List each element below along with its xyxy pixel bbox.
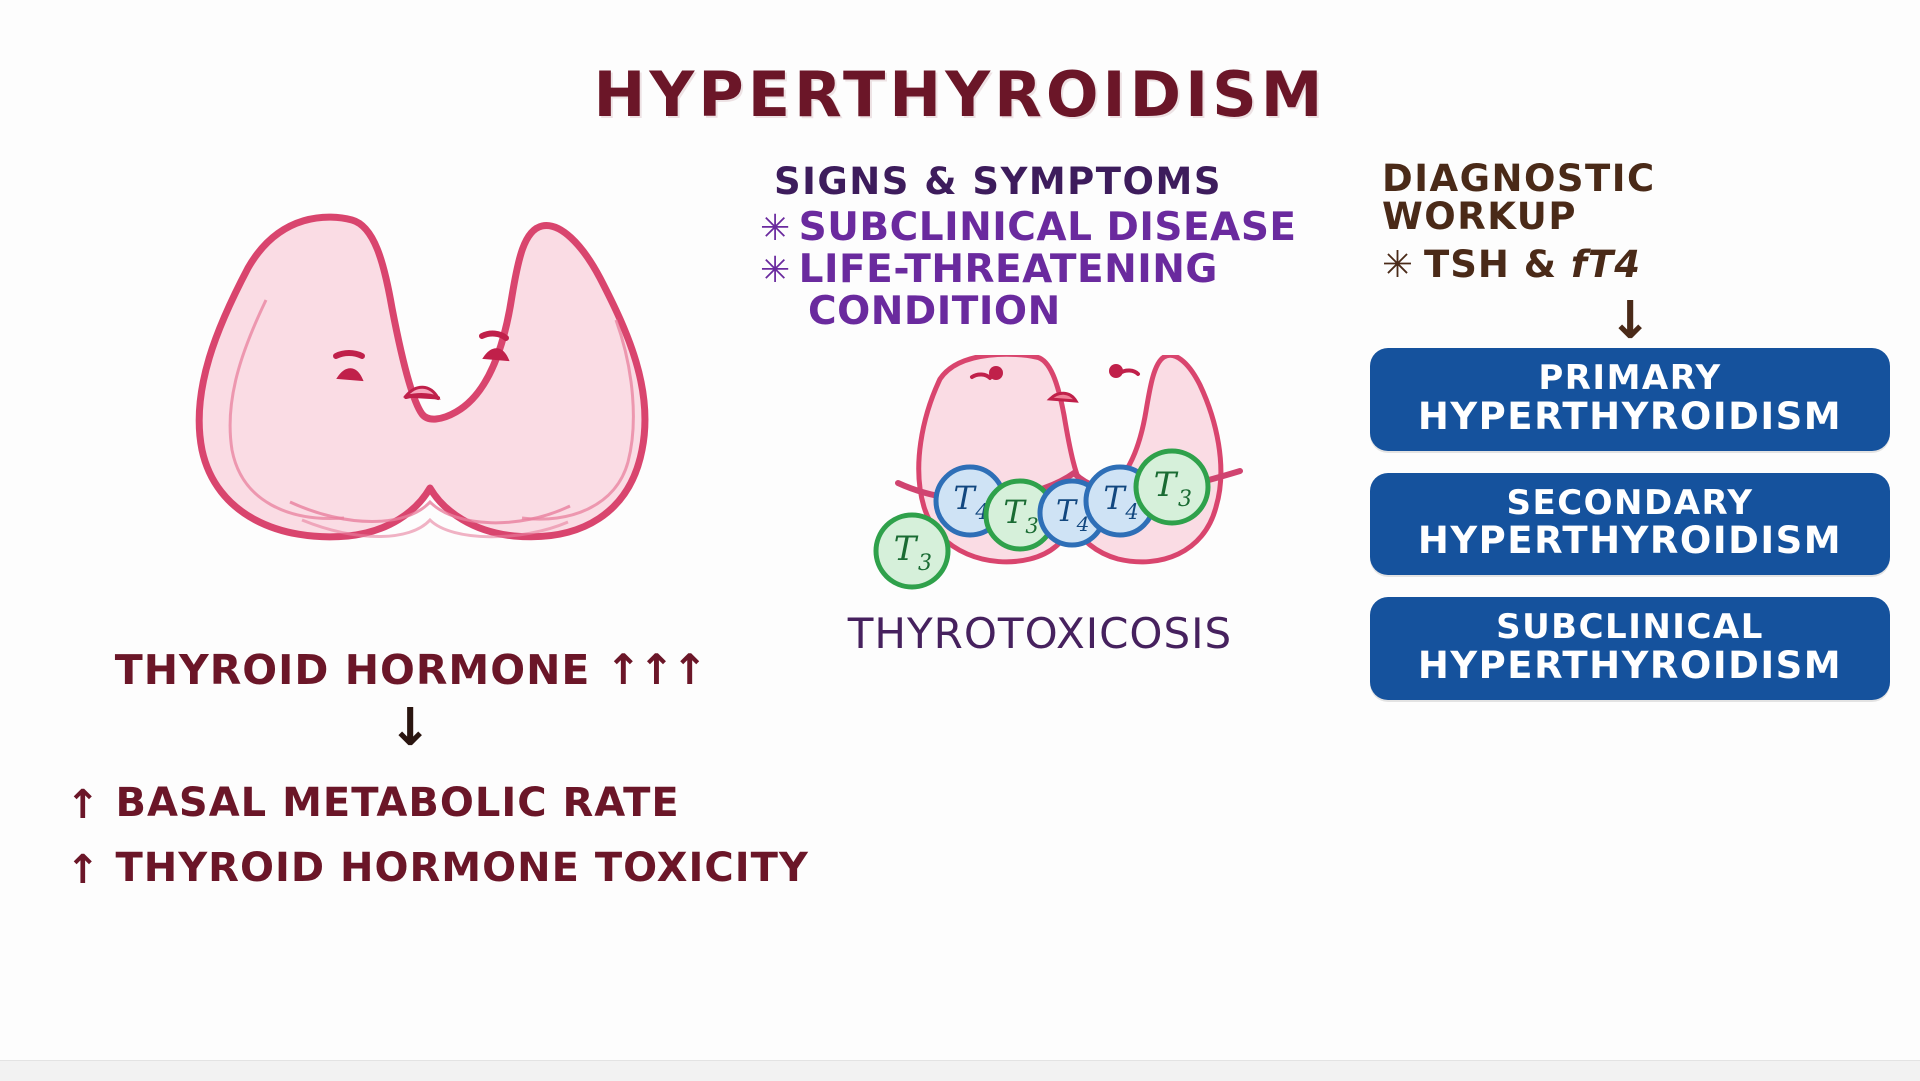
signs-item-label: SUBCLINICAL DISEASE	[799, 205, 1297, 250]
page-title: HYPERTHYROIDISM	[0, 58, 1920, 131]
hormone-circle-t3-2: T 3	[1136, 451, 1208, 523]
up-arrow-icon: ↑	[66, 847, 101, 893]
up-arrow-icon: ↑	[66, 782, 101, 828]
signs-item-life-threatening: ✳LIFE-THREATENING	[760, 249, 1320, 291]
workup-item-label: TSH &	[1424, 243, 1557, 286]
result-box-line2: HYPERTHYROIDISM	[1380, 397, 1880, 437]
workup-item-ft4: fT4	[1571, 243, 1641, 286]
middle-column: SIGNS & SYMPTOMS ✳SUBCLINICAL DISEASE ✳L…	[760, 160, 1320, 658]
result-box-line1: PRIMARY	[1380, 360, 1880, 397]
result-box-line1: SUBCLINICAL	[1380, 609, 1880, 646]
diagnostic-workup-heading: DIAGNOSTIC WORKUP	[1382, 160, 1890, 237]
illustration-canvas: HYPERTHYROIDISM TH	[0, 0, 1920, 1080]
thyroid-hormone-status: THYROID HORMONE ↑↑↑	[60, 645, 760, 694]
workup-heading-line2: WORKUP	[1382, 195, 1577, 238]
down-arrow-icon-right: ↓	[1370, 294, 1890, 348]
asterisk-icon: ✳	[760, 208, 791, 249]
svg-text:4: 4	[1124, 500, 1138, 524]
svg-text:3: 3	[1025, 514, 1038, 538]
asterisk-icon: ✳	[760, 250, 791, 291]
asterisk-icon: ✳	[1382, 243, 1414, 286]
svg-text:3: 3	[918, 551, 932, 576]
effect-label: BASAL METABOLIC RATE	[115, 780, 679, 826]
left-column: THYROID HORMONE ↑↑↑ ↓ ↑ BASAL METABOLIC …	[60, 150, 760, 550]
thyroid-gland-svg	[130, 150, 690, 550]
thyroid-small-illustration: T 4 T 3 T 4 T 4	[868, 355, 1268, 605]
svg-text:T: T	[1154, 465, 1179, 505]
signs-item-subclinical-disease: ✳SUBCLINICAL DISEASE	[760, 207, 1320, 249]
svg-text:T: T	[953, 479, 977, 517]
effect-basal-metabolic-rate: ↑ BASAL METABOLIC RATE	[66, 780, 680, 826]
result-box-line2: HYPERTHYROIDISM	[1380, 646, 1880, 686]
svg-text:T: T	[1103, 479, 1127, 517]
result-box-subclinical-hyperthyroidism[interactable]: SUBCLINICAL HYPERTHYROIDISM	[1370, 597, 1890, 700]
thyroid-hormone-label: THYROID HORMONE	[115, 646, 591, 694]
effect-thyroid-hormone-toxicity: ↑ THYROID HORMONE TOXICITY	[66, 845, 809, 891]
result-box-secondary-hyperthyroidism[interactable]: SECONDARY HYPERTHYROIDISM	[1370, 473, 1890, 576]
svg-text:T: T	[1056, 494, 1078, 529]
workup-heading-line1: DIAGNOSTIC	[1382, 157, 1656, 200]
result-box-line1: SECONDARY	[1380, 485, 1880, 522]
signs-item-life-threatening-cont: CONDITION	[808, 291, 1320, 333]
svg-text:3: 3	[1178, 487, 1192, 512]
result-box-line2: HYPERTHYROIDISM	[1380, 521, 1880, 561]
down-arrow-icon-left: ↓	[60, 702, 760, 754]
thyroid-large-illustration	[130, 150, 690, 550]
result-box-primary-hyperthyroidism[interactable]: PRIMARY HYPERTHYROIDISM	[1370, 348, 1890, 451]
right-column: DIAGNOSTIC WORKUP ✳TSH & fT4 ↓ PRIMARY H…	[1370, 160, 1890, 722]
signs-symptoms-heading: SIGNS & SYMPTOMS	[774, 160, 1320, 203]
bottom-strip	[0, 1060, 1920, 1081]
signs-item-label: LIFE-THREATENING	[799, 247, 1218, 292]
hormone-increase-arrows: ↑↑↑	[606, 645, 706, 694]
thyrotoxicosis-caption: THYROTOXICOSIS	[760, 609, 1320, 658]
thyroid-hormone-svg: T 4 T 3 T 4 T 4	[868, 355, 1268, 605]
workup-item-tsh-ft4: ✳TSH & fT4	[1382, 243, 1890, 286]
effect-label: THYROID HORMONE TOXICITY	[115, 845, 808, 891]
hormone-circle-t3-3: T 3	[876, 515, 948, 587]
svg-text:T: T	[894, 529, 919, 569]
svg-text:T: T	[1003, 493, 1027, 531]
